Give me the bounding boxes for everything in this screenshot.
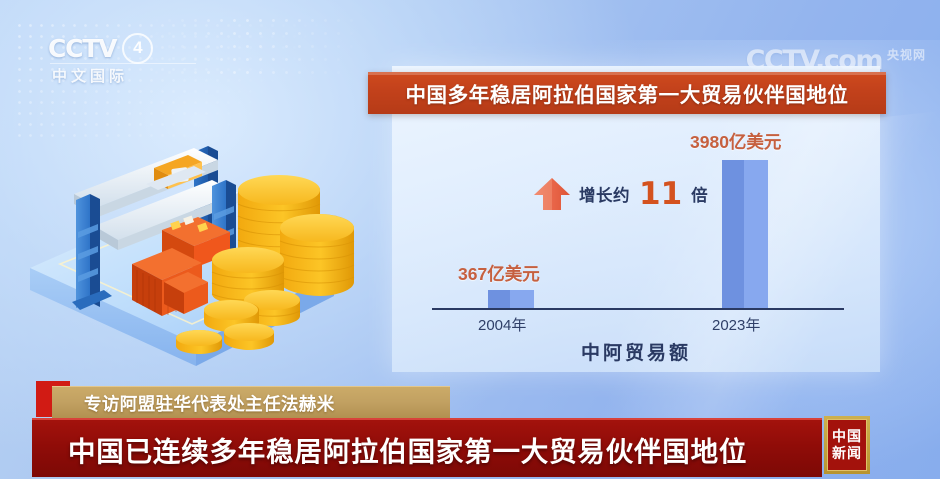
channel-number-badge: 4 [122,33,153,64]
bar-2023-left-face [722,160,744,308]
headline-bar: 中国已连续多年稳居阿拉伯国家第一大贸易伙伴国地位 [32,418,822,477]
bar-2004-right-face [510,290,534,308]
growth-suffix-label: 倍 [691,182,708,206]
up-arrow-icon [532,176,572,212]
bar-2004-left-face [488,290,510,308]
broadcast-frame: CCTV 4 中文国际 CCTV.com 央视网 [0,0,940,479]
growth-annotation: 增长约 11 倍 [532,176,708,212]
program-logo: 中国 新闻 [824,416,870,474]
graphic-title-text: 中国多年稳居阿拉伯国家第一大贸易伙伴国地位 [405,78,848,108]
cctv-wordmark: CCTV [48,34,116,63]
chart-caption: 中阿贸易额 [392,338,880,365]
growth-multiple-value: 11 [639,179,682,210]
isometric-port-illustration [16,112,356,374]
watermark-chinese: 央视网 [887,46,926,63]
bar-2023 [722,160,768,308]
headline-text: 中国已连续多年稳居阿拉伯国家第一大贸易伙伴国地位 [68,429,747,469]
chart-axis-line [432,308,844,310]
bar-2023-right-face [744,160,768,308]
graphic-title-banner: 中国多年稳居阿拉伯国家第一大贸易伙伴国地位 [368,72,886,114]
x-tick-label-2023: 2023年 [712,314,760,335]
channel-name-label: 中文国际 [48,65,198,86]
bar-2004 [488,290,534,308]
x-tick-label-2004: 2004年 [478,314,526,335]
subtitle-bar: 专访阿盟驻华代表处主任法赫米 [52,386,450,419]
bar-value-label-2004: 367亿美元 [458,261,540,286]
logo-underline [50,63,196,64]
banner-highlight-strip [368,72,886,75]
program-logo-line2: 新闻 [832,446,862,461]
program-logo-line1: 中国 [832,429,862,444]
program-logo-inner: 中国 新闻 [827,419,867,471]
cctv4-logo: CCTV 4 中文国际 [48,33,198,87]
subtitle-text: 专访阿盟驻华代表处主任法赫米 [84,391,335,416]
cctv4-logo-row: CCTV 4 [48,33,198,63]
bar-value-label-2023: 3980亿美元 [690,129,781,154]
growth-prefix-label: 增长约 [579,182,630,206]
